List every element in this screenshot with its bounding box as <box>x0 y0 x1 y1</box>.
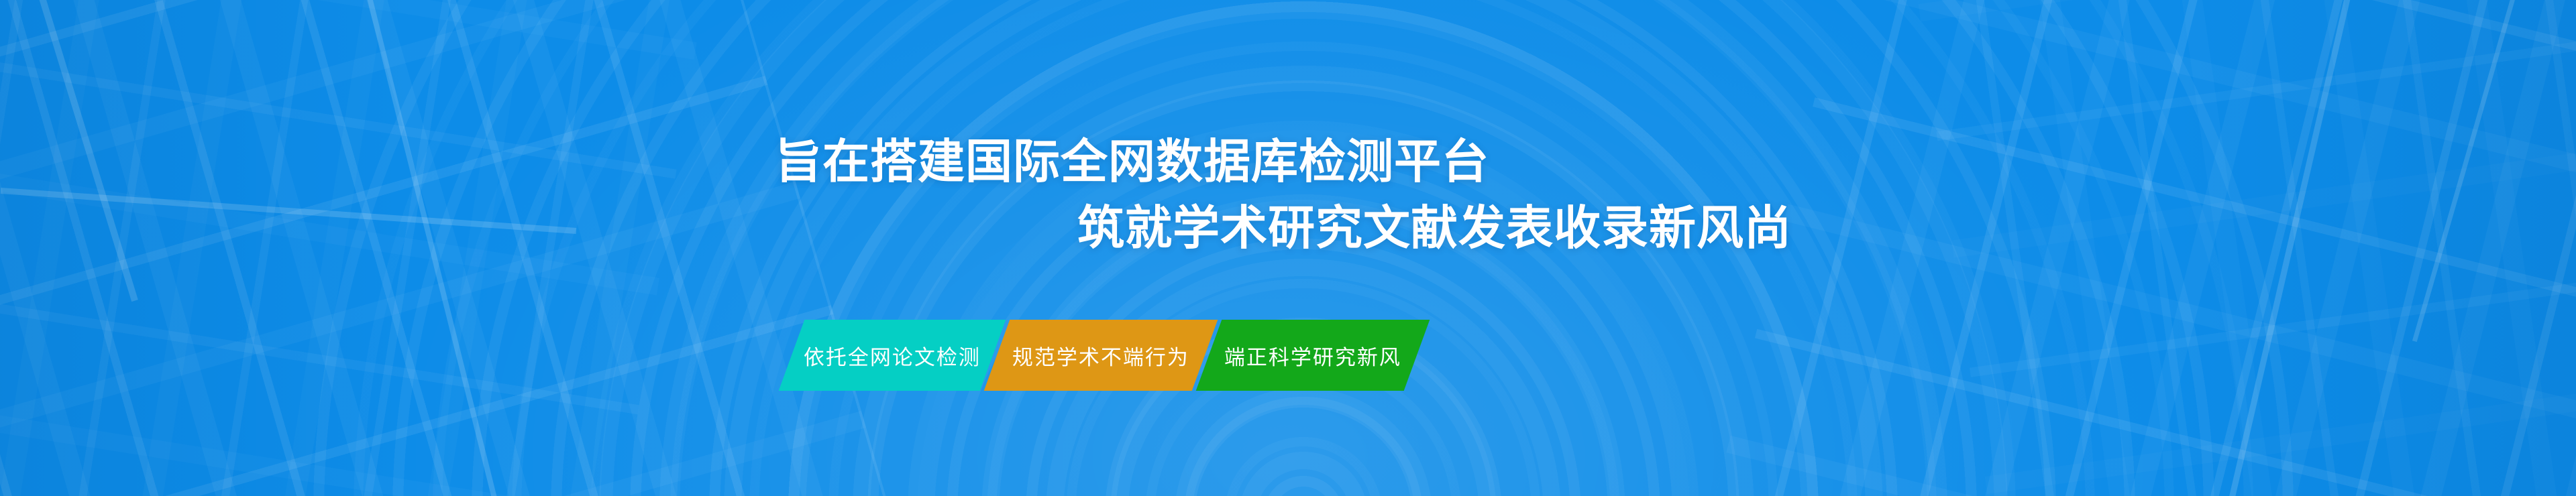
grid-pattern-right <box>1673 0 2576 496</box>
headline-line-2: 筑就学术研究文献发表收录新风尚 <box>1077 204 1792 251</box>
feature-tag-1-label: 依托全网论文检测 <box>804 340 981 371</box>
feature-tag-2[interactable]: 规范学术不端行为 <box>984 320 1218 391</box>
accent-stroke-5 <box>1 188 577 234</box>
promo-banner: 旨在搭建国际全网数据库检测平台 筑就学术研究文献发表收录新风尚 依托全网论文检测… <box>0 0 2576 496</box>
feature-tag-2-label: 规范学术不端行为 <box>1012 340 1189 371</box>
accent-stroke-1 <box>30 0 138 302</box>
grid-pattern-right-alt <box>1906 0 2576 496</box>
headline-line-1: 旨在搭建国际全网数据库检测平台 <box>775 138 1489 185</box>
grid-pattern-left <box>0 0 927 496</box>
feature-tag-1[interactable]: 依托全网论文检测 <box>779 320 1006 391</box>
accent-stroke-3 <box>2222 0 2361 496</box>
accent-stroke-2 <box>356 0 507 496</box>
feature-tag-3-label: 端正科学研究新风 <box>1224 340 1401 371</box>
accent-stroke-4 <box>2412 0 2520 342</box>
feature-tag-3[interactable]: 端正科学研究新风 <box>1196 320 1430 391</box>
grid-pattern-left-alt <box>0 0 721 496</box>
feature-tag-strip: 依托全网论文检测 规范学术不端行为 端正科学研究新风 <box>792 320 1417 391</box>
